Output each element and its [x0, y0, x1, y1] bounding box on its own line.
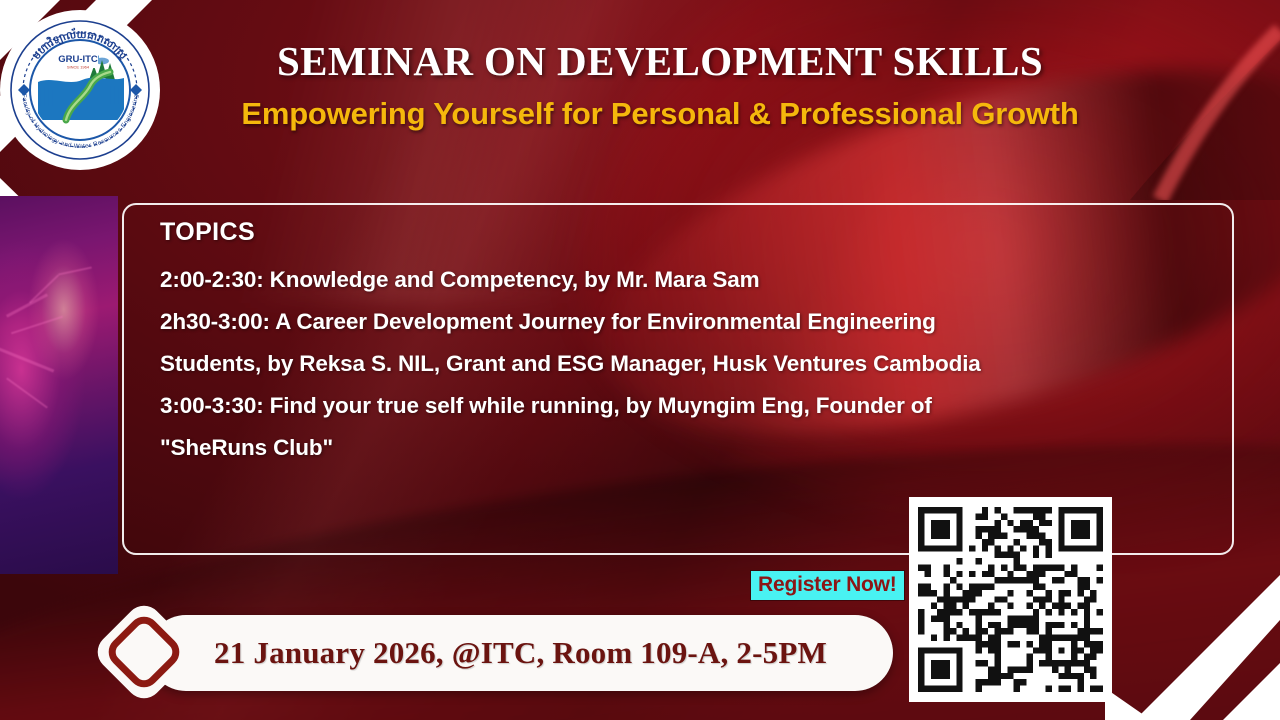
seminar-poster: មហាវិទ្យាល័យធារាសាស្ត្រ Faculty of Hydro…: [0, 0, 1280, 720]
page-subtitle: Empowering Yourself for Personal & Profe…: [160, 97, 1160, 131]
topics-content: TOPICS 2:00-2:30: Knowledge and Competen…: [160, 218, 1220, 472]
topics-heading: TOPICS: [160, 218, 1220, 247]
svg-text:SINCE 1964: SINCE 1964: [67, 65, 90, 70]
topics-list: 2:00-2:30: Knowledge and Competency, by …: [160, 263, 1220, 465]
poster-header: SEMINAR ON DEVELOPMENT SKILLS Empowering…: [160, 40, 1160, 131]
topic-line: Students, by Reksa S. NIL, Grant and ESG…: [160, 347, 1220, 382]
event-date-text: 21 January 2026, @ITC, Room 109-A, 2-5PM: [214, 635, 827, 671]
register-now-badge[interactable]: Register Now!: [751, 571, 904, 600]
topic-line: 2:00-2:30: Knowledge and Competency, by …: [160, 263, 1220, 298]
topic-line: 3:00-3:30: Find your true self while run…: [160, 389, 1220, 424]
faculty-logo: មហាវិទ្យាល័យធារាសាស្ត្រ Faculty of Hydro…: [6, 16, 154, 164]
logo-emblem-icon: មហាវិទ្យាល័យធារាសាស្ត្រ Faculty of Hydro…: [6, 16, 154, 164]
qr-code-svg: [918, 506, 1103, 693]
diamond-badge-icon: [88, 596, 200, 708]
page-title: SEMINAR ON DEVELOPMENT SKILLS: [160, 40, 1160, 83]
svg-text:GRU-ITC: GRU-ITC: [58, 54, 98, 65]
qr-code-icon[interactable]: [909, 497, 1112, 702]
topic-line: 2h30-3:00: A Career Development Journey …: [160, 305, 1220, 340]
runner-photo: [0, 196, 118, 574]
topic-line: "SheRuns Club": [160, 431, 1220, 466]
event-date-pill: 21 January 2026, @ITC, Room 109-A, 2-5PM: [148, 615, 893, 691]
